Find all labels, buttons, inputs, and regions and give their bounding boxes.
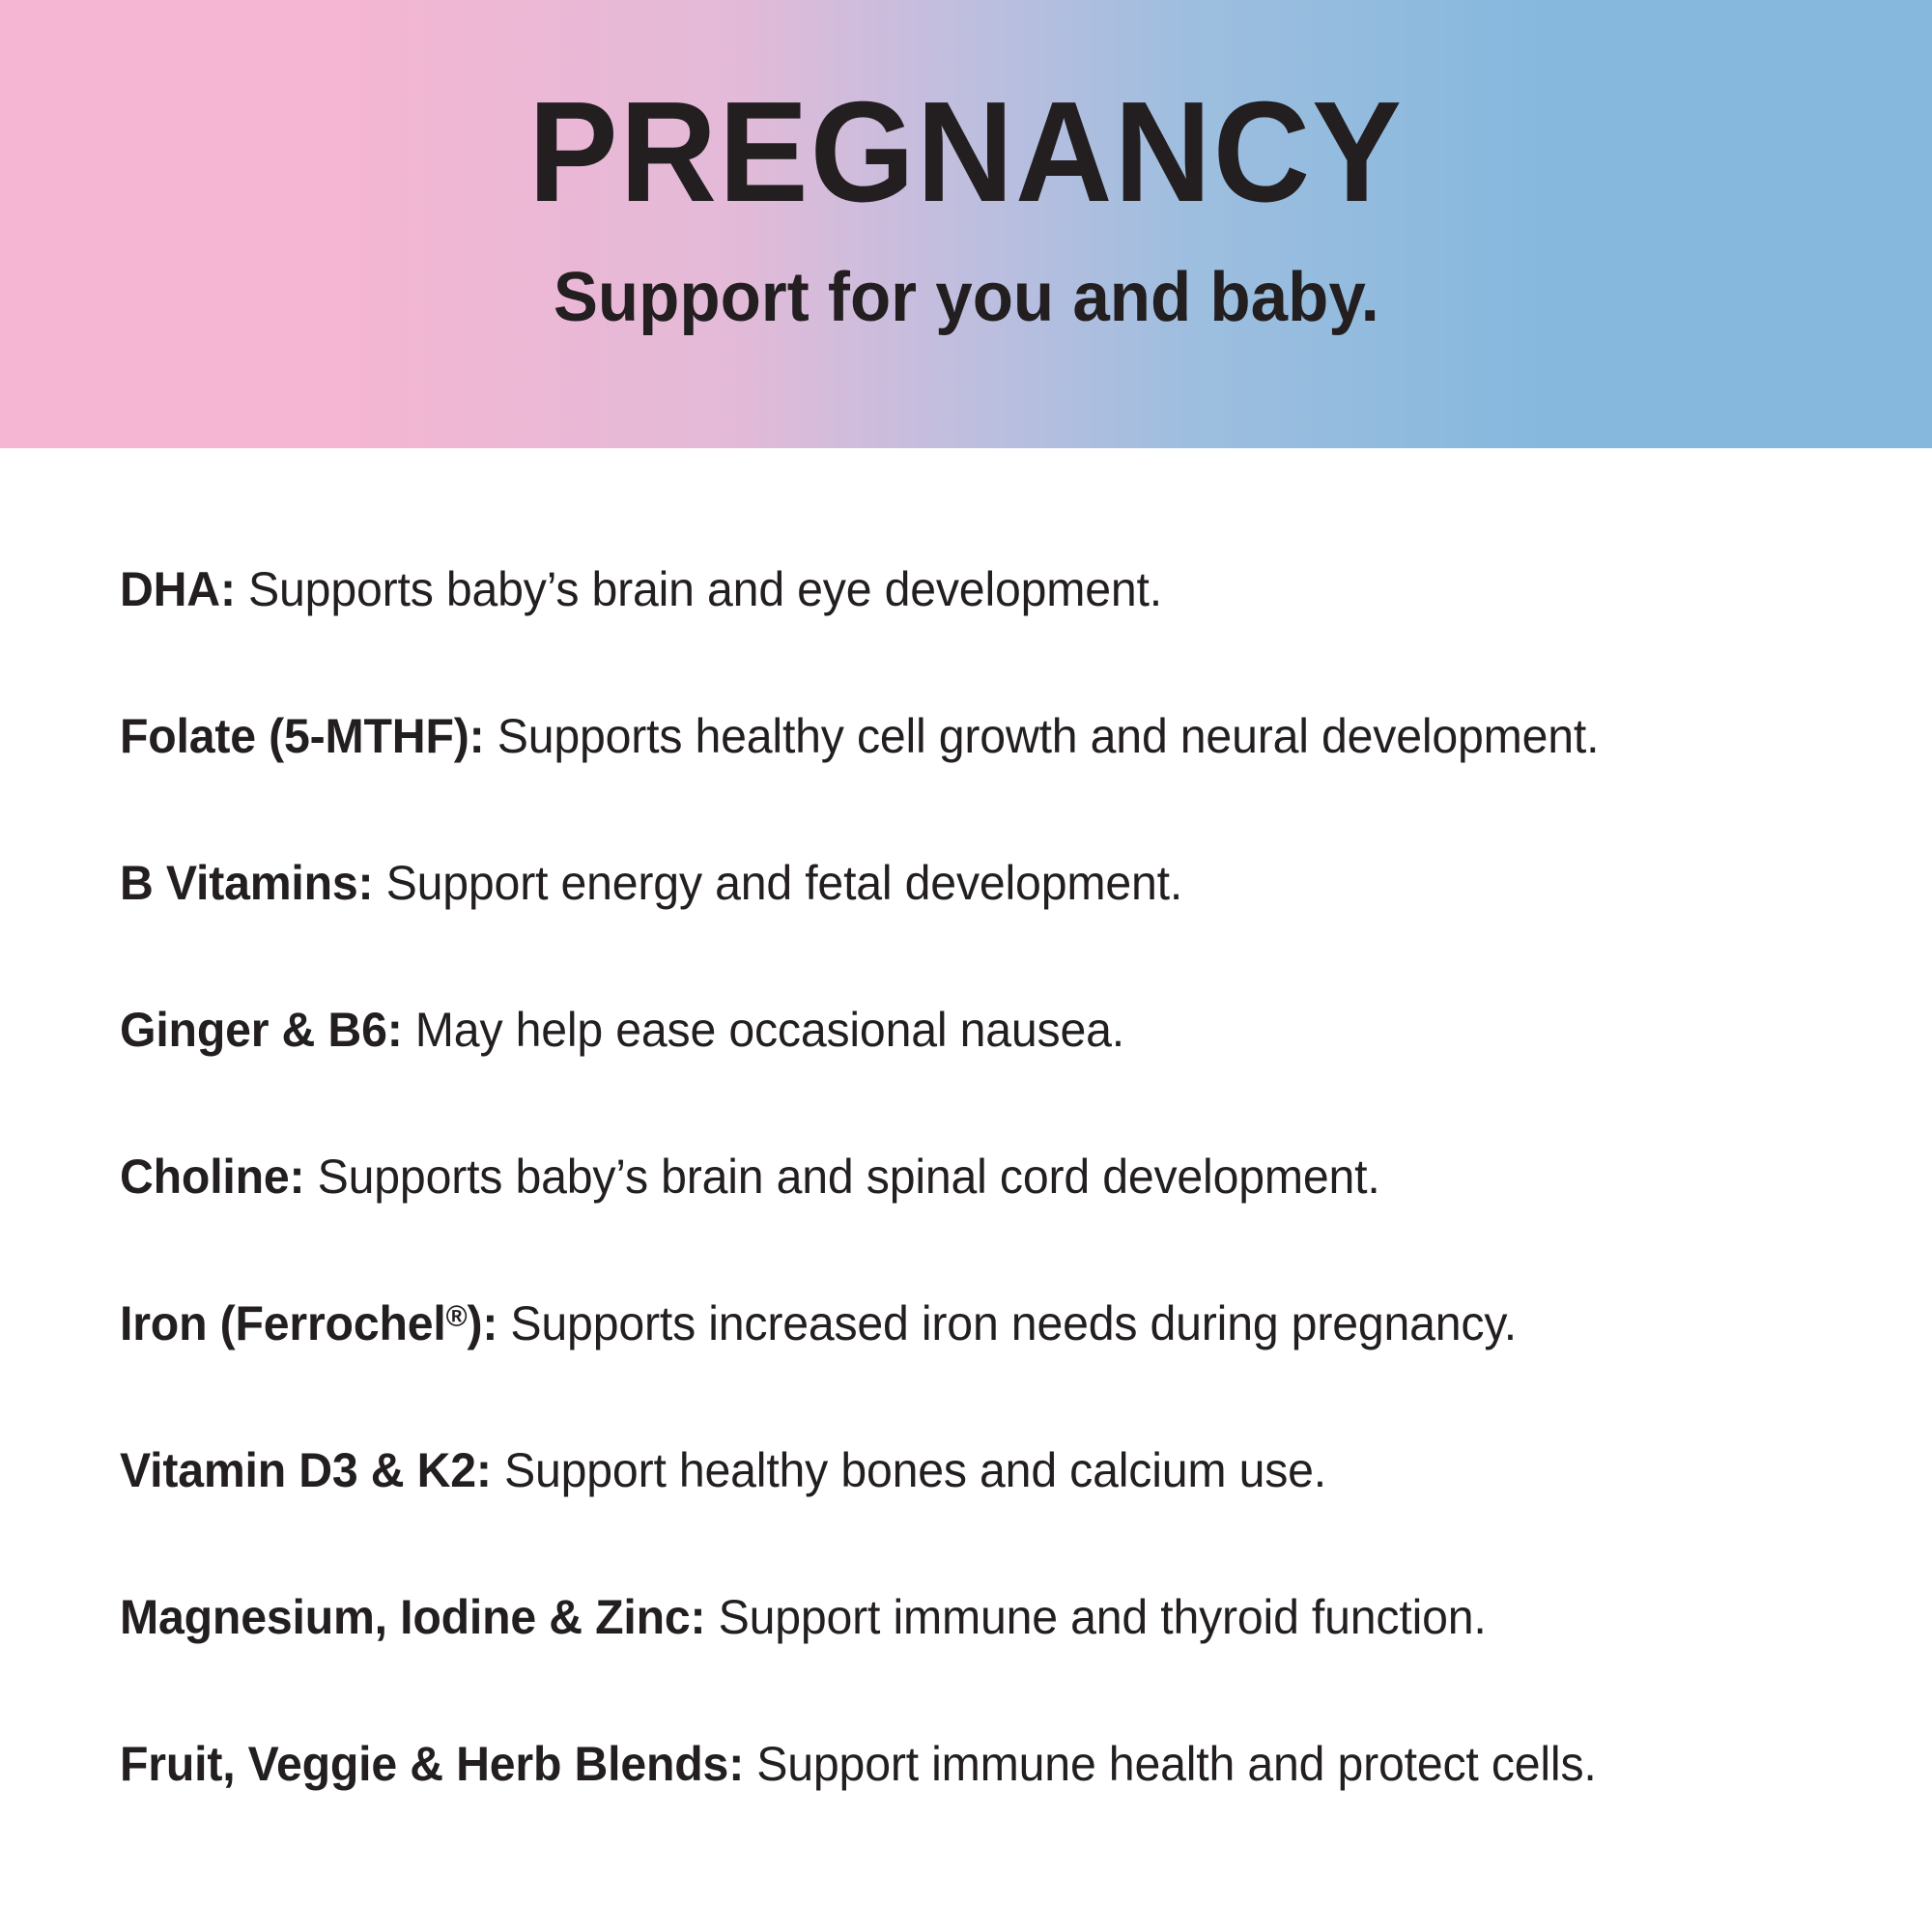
benefit-text: Ginger & B6: May help ease occasional na… — [120, 1001, 1124, 1059]
benefit-text: Iron (Ferrochel®): Supports increased ir… — [120, 1294, 1517, 1352]
benefit-item: Iron (Ferrochel®): Supports increased ir… — [120, 1294, 1859, 1441]
benefit-description: Support immune and thyroid function. — [705, 1590, 1486, 1644]
benefit-description: Supports healthy cell growth and neural … — [484, 709, 1599, 763]
header-content: PREGNANCY Support for you and baby. — [0, 0, 1932, 448]
benefit-description: Support healthy bones and calcium use. — [492, 1443, 1326, 1497]
benefit-item: Ginger & B6: May help ease occasional na… — [120, 1001, 1859, 1148]
benefit-description: May help ease occasional nausea. — [403, 1003, 1124, 1057]
benefit-item: DHA: Supports baby’s brain and eye devel… — [120, 560, 1859, 707]
benefits-list: DHA: Supports baby’s brain and eye devel… — [120, 560, 1859, 1882]
benefit-term: Vitamin D3 & K2: — [120, 1443, 492, 1497]
benefit-text: Choline: Supports baby’s brain and spina… — [120, 1148, 1380, 1206]
benefit-item: B Vitamins: Support energy and fetal dev… — [120, 854, 1859, 1001]
benefit-term: Folate (5-MTHF): — [120, 709, 484, 763]
benefit-term: Ginger & B6: — [120, 1003, 403, 1057]
benefit-term: Choline: — [120, 1150, 304, 1204]
benefit-term: Iron (Ferrochel®): — [120, 1296, 497, 1350]
benefit-item: Fruit, Veggie & Herb Blends: Support imm… — [120, 1735, 1859, 1882]
header-gradient-banner: PREGNANCY Support for you and baby. — [0, 0, 1932, 448]
benefit-text: Fruit, Veggie & Herb Blends: Support imm… — [120, 1735, 1597, 1793]
benefit-item: Magnesium, Iodine & Zinc: Support immune… — [120, 1588, 1859, 1735]
benefit-text: DHA: Supports baby’s brain and eye devel… — [120, 560, 1162, 618]
benefit-item: Folate (5-MTHF): Supports healthy cell g… — [120, 707, 1859, 854]
page-subtitle: Support for you and baby. — [553, 263, 1378, 332]
benefit-term: DHA: — [120, 562, 236, 616]
registered-trademark-icon: ® — [446, 1299, 468, 1333]
benefit-term: Fruit, Veggie & Herb Blends: — [120, 1737, 744, 1791]
benefit-description: Supports baby’s brain and eye developmen… — [236, 562, 1162, 616]
benefit-description: Support energy and fetal development. — [373, 856, 1182, 910]
benefit-text: B Vitamins: Support energy and fetal dev… — [120, 854, 1182, 912]
benefit-term: B Vitamins: — [120, 856, 373, 910]
benefit-description: Supports baby’s brain and spinal cord de… — [304, 1150, 1379, 1204]
benefit-item: Vitamin D3 & K2: Support healthy bones a… — [120, 1441, 1859, 1588]
benefit-text: Magnesium, Iodine & Zinc: Support immune… — [120, 1588, 1487, 1646]
page-title: PREGNANCY — [528, 81, 1404, 224]
benefit-term: Magnesium, Iodine & Zinc: — [120, 1590, 705, 1644]
benefit-item: Choline: Supports baby’s brain and spina… — [120, 1148, 1859, 1294]
benefit-text: Vitamin D3 & K2: Support healthy bones a… — [120, 1441, 1326, 1499]
benefit-text: Folate (5-MTHF): Supports healthy cell g… — [120, 707, 1599, 765]
benefit-description: Support immune health and protect cells. — [744, 1737, 1597, 1791]
benefit-description: Supports increased iron needs during pre… — [497, 1296, 1517, 1350]
